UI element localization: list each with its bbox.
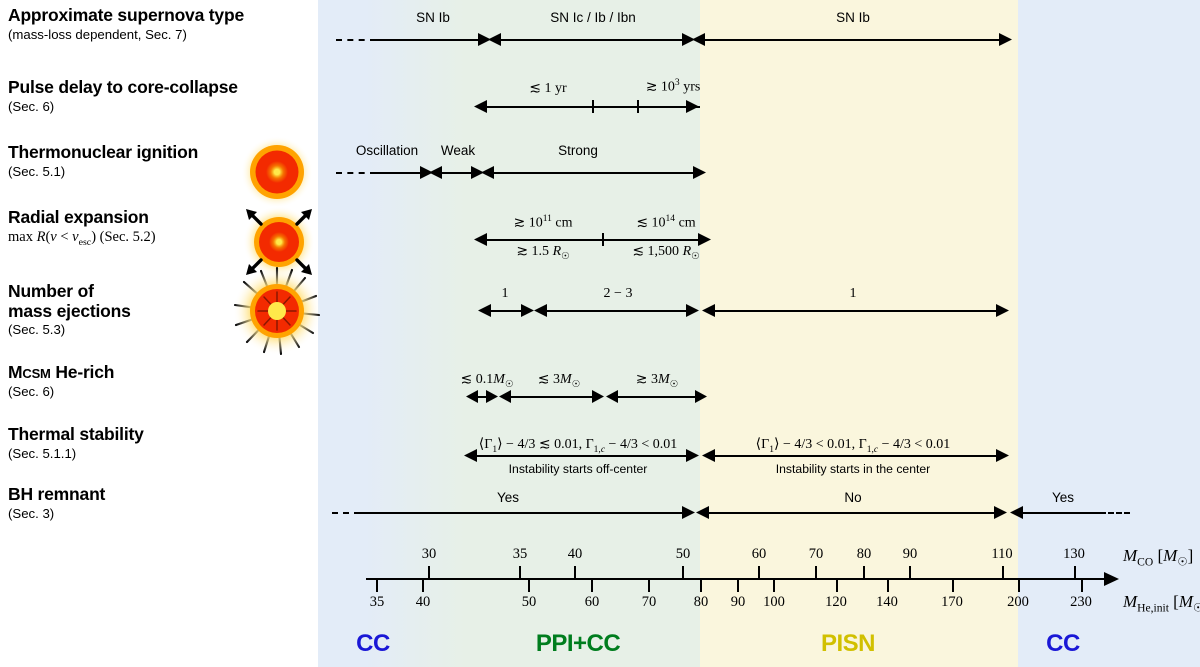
row-subtitle: max R(v < vesc) (Sec. 5.2) — [8, 229, 258, 249]
segment-label: 1 — [793, 286, 913, 302]
arrowhead-right — [592, 389, 605, 404]
band-cc-left — [318, 0, 364, 667]
band-gradient-1 — [364, 0, 464, 667]
row-title: MCSM He-rich — [8, 363, 258, 383]
axis-tick-lower — [737, 579, 739, 592]
row-label-column: Approximate supernova type (mass-loss de… — [0, 0, 318, 667]
axis-tick-upper — [758, 566, 760, 579]
row-label-supernova-type: Approximate supernova type (mass-loss de… — [8, 6, 258, 42]
figure-root: Approximate supernova type (mass-loss de… — [0, 0, 1200, 667]
segment-label: ⟨Γ1⟩ − 4/3 ≲ 0.01, Γ1,c − 4/3 < 0.01 — [458, 436, 698, 455]
segment-label-line2: ≳ 1.5 R☉ — [483, 243, 603, 262]
row-title: Thermonuclear ignition — [8, 143, 258, 163]
row-subtitle: (Sec. 3) — [8, 506, 258, 522]
axis-tick-lower — [1081, 579, 1083, 592]
axis-tick-upper — [428, 566, 430, 579]
segment-label: ≲ 1014 cm — [606, 214, 726, 232]
row-subtitle: (Sec. 5.1) — [8, 164, 258, 180]
segment-label: Weak — [423, 143, 493, 158]
axis-tick-label-lower: 80 — [683, 594, 719, 611]
axis-tick-lower — [528, 579, 530, 592]
region-label-cc-right: CC — [1018, 630, 1108, 658]
axis-title-mheinit: MHe,init [M☉] — [1123, 592, 1200, 614]
axis-tick-lower — [648, 579, 650, 592]
axis-tick-label-lower: 50 — [511, 594, 547, 611]
row-subtitle: (mass-loss dependent, Sec. 7) — [8, 27, 258, 43]
region-label-pisn: PISN — [773, 630, 923, 658]
row-subtitle: (Sec. 6) — [8, 99, 258, 115]
band-pisn — [700, 0, 1018, 667]
arrowhead-right — [999, 32, 1013, 47]
arrowhead-right — [486, 389, 499, 404]
axis-tick-label-lower: 35 — [359, 594, 395, 611]
row-label-mcsm-he-rich: MCSM He-rich (Sec. 6) — [8, 363, 258, 399]
axis-tick-label-lower: 40 — [405, 594, 441, 611]
axis-tick-label-upper: 60 — [741, 546, 777, 563]
row-label-thermal-stability: Thermal stability (Sec. 5.1.1) — [8, 425, 258, 461]
axis-tick-upper — [815, 566, 817, 579]
segment-label: ≳ 3M☉ — [612, 371, 702, 390]
segment-label: ⟨Γ1⟩ − 4/3 < 0.01, Γ1,c − 4/3 < 0.01 — [703, 436, 1003, 455]
row-label-thermonuclear-ignition: Thermonuclear ignition (Sec. 5.1) — [8, 143, 258, 179]
arrowhead-right — [686, 99, 700, 114]
axis-tick-upper — [863, 566, 865, 579]
row-title: Thermal stability — [8, 425, 258, 445]
axis-tick-upper — [1002, 566, 1004, 579]
row-title-line2: mass ejections — [8, 302, 258, 322]
row-label-pulse-delay: Pulse delay to core-collapse (Sec. 6) — [8, 78, 258, 114]
axis-tick-upper — [1074, 566, 1076, 579]
row-tick — [637, 100, 639, 113]
segment-label: ≲ 3M☉ — [514, 371, 604, 390]
axis-tick-label-lower: 230 — [1059, 594, 1103, 611]
segment-label: ≳ 1011 cm — [483, 214, 603, 232]
row-title: Approximate supernova type — [8, 6, 258, 26]
axis-tick-label-upper: 35 — [502, 546, 538, 563]
row-label-radial-expansion: Radial expansion max R(v < vesc) (Sec. 5… — [8, 208, 258, 248]
axis-tick-label-lower: 70 — [631, 594, 667, 611]
region-label-cc-left: CC — [328, 630, 418, 658]
axis-tick-lower — [700, 579, 702, 592]
axis-tick-label-lower: 200 — [996, 594, 1040, 611]
axis-tick-label-upper: 70 — [798, 546, 834, 563]
axis-tick-upper — [909, 566, 911, 579]
axis-tick-lower — [591, 579, 593, 592]
arrowhead-right — [686, 303, 700, 318]
segment-label: ≳ 103 yrs — [613, 78, 733, 96]
row-title: BH remnant — [8, 485, 258, 505]
row-label-mass-ejections: Number of mass ejections (Sec. 5.3) — [8, 282, 258, 338]
chart-area: SN Ib SN Ic / Ib / Ibn SN Ib ≲ 1 yr ≳ 10… — [318, 0, 1200, 667]
row-title: Number of — [8, 282, 258, 302]
axis-tick-label-upper: 30 — [411, 546, 447, 563]
arrowhead-right — [521, 303, 535, 318]
axis-tick-lower — [952, 579, 954, 592]
axis-tick-label-upper: 40 — [557, 546, 593, 563]
axis-tick-lower — [836, 579, 838, 592]
axis-tick-label-lower: 140 — [865, 594, 909, 611]
row-subtitle: (Sec. 5.1.1) — [8, 446, 258, 462]
axis-tick-lower — [376, 579, 378, 592]
region-label-ppi-cc: PPI+CC — [488, 630, 668, 658]
segment-label: No — [808, 490, 898, 505]
band-ppi-cc — [464, 0, 700, 667]
segment-label: 1 — [472, 286, 538, 302]
axis-tick-lower — [422, 579, 424, 592]
arrowhead-right — [996, 303, 1010, 318]
row-title: Radial expansion — [8, 208, 258, 228]
axis-tick-label-upper: 130 — [1056, 546, 1092, 563]
row-tick — [592, 100, 594, 113]
axis-tick-label-lower: 120 — [814, 594, 858, 611]
axis-tick-upper — [682, 566, 684, 579]
axis-tick-label-lower: 60 — [574, 594, 610, 611]
axis-tick-upper — [574, 566, 576, 579]
row-label-bh-remnant: BH remnant (Sec. 3) — [8, 485, 258, 521]
segment-label: SN Ic / Ib / Ibn — [513, 10, 673, 25]
arrowhead-right — [693, 165, 707, 180]
segment-label-line2: ≲ 1,500 R☉ — [606, 243, 726, 262]
segment-label: Strong — [523, 143, 633, 158]
segment-label: Yes — [1023, 490, 1103, 505]
axis-tick-label-lower: 90 — [720, 594, 756, 611]
segment-label: Yes — [463, 490, 553, 505]
axis-tick-label-lower: 100 — [752, 594, 796, 611]
axis-tick-label-upper: 90 — [892, 546, 928, 563]
arrowhead-right — [682, 505, 696, 520]
axis-tick-lower — [773, 579, 775, 592]
segment-sublabel: Instability starts in the center — [713, 462, 993, 476]
axis-tick-label-upper: 80 — [846, 546, 882, 563]
segment-label: SN Ib — [368, 10, 498, 25]
row-subtitle: (Sec. 6) — [8, 384, 258, 400]
row-subtitle: (Sec. 5.3) — [8, 322, 258, 338]
star-exploding-icon — [231, 265, 323, 362]
axis-tick-lower — [887, 579, 889, 592]
axis-tick-label-upper: 50 — [665, 546, 701, 563]
segment-label: ≲ 1 yr — [493, 80, 603, 97]
row-title: Pulse delay to core-collapse — [8, 78, 258, 98]
axis-tick-upper — [519, 566, 521, 579]
axis-tick-lower — [1018, 579, 1020, 592]
axis-title-mco: MCO [M☉] — [1123, 546, 1193, 568]
axis-tick-label-lower: 170 — [930, 594, 974, 611]
segment-label: SN Ib — [788, 10, 918, 25]
arrowhead-right — [695, 389, 708, 404]
axis-arrowhead — [1104, 571, 1120, 587]
axis-tick-label-upper: 110 — [984, 546, 1020, 563]
arrowhead-right — [994, 505, 1008, 520]
segment-label: 2 − 3 — [558, 286, 678, 302]
segment-sublabel: Instability starts off-center — [468, 462, 688, 476]
